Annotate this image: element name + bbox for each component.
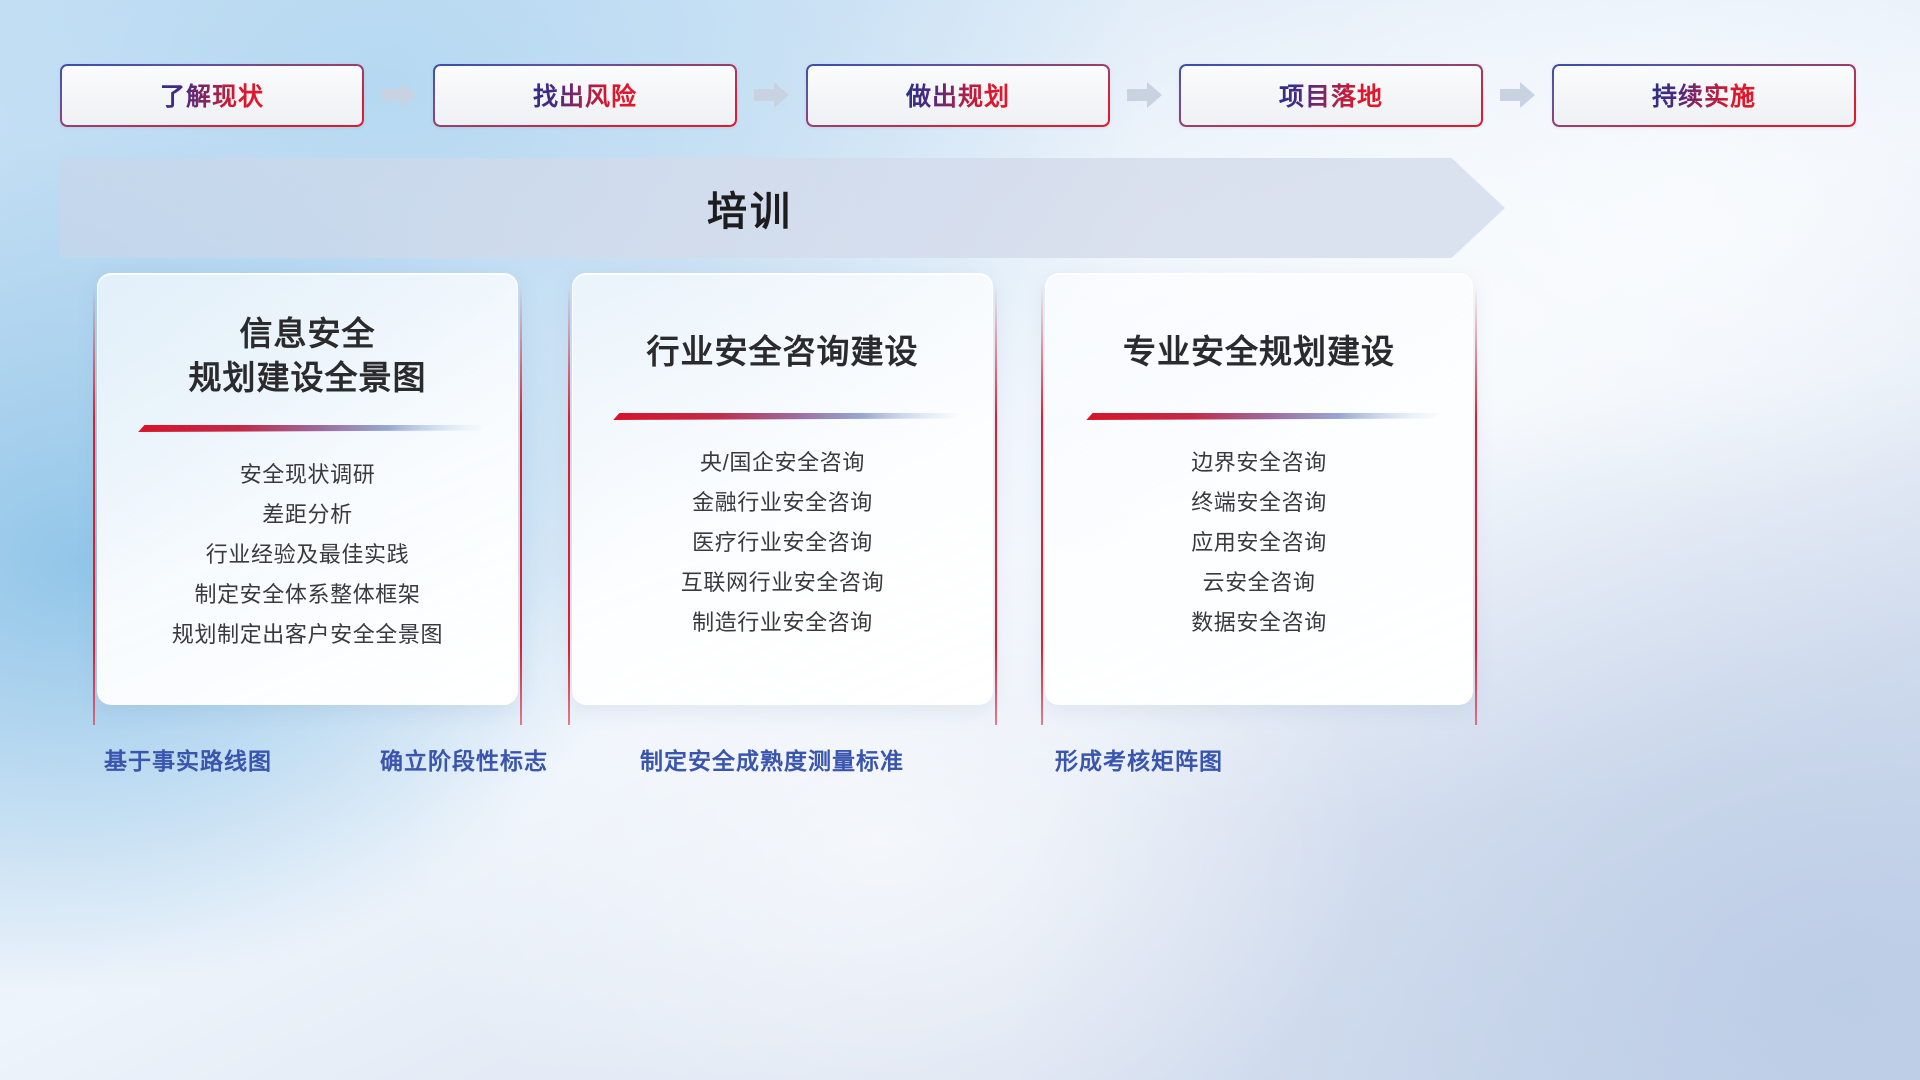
- footer-label: 基于事实路线图: [104, 742, 272, 776]
- card-divider: [132, 424, 484, 434]
- card-body: 专业安全规划建设: [1045, 273, 1473, 705]
- list-item: 应用安全咨询: [1191, 532, 1327, 554]
- process-step-3[interactable]: 做出规划: [806, 64, 1110, 127]
- list-item: 终端安全咨询: [1191, 492, 1327, 514]
- footer-label: 确立阶段性标志: [380, 742, 548, 776]
- card-item-list: 边界安全咨询 终端安全咨询 应用安全咨询 云安全咨询 数据安全咨询: [1046, 452, 1472, 634]
- card-title: 行业安全咨询建设: [647, 330, 919, 374]
- footer-label: 制定安全成熟度测量标准: [640, 742, 904, 776]
- chevron-right-arrow-icon: [737, 75, 806, 115]
- list-item: 差距分析: [262, 504, 352, 526]
- process-step-row: 了解现状 找出风险 做出规划 项目落地 持续实施: [60, 63, 1860, 127]
- list-item: 云安全咨询: [1202, 572, 1315, 594]
- list-item: 数据安全咨询: [1191, 612, 1327, 634]
- card-left-rail: [1041, 287, 1043, 725]
- list-item: 行业经验及最佳实践: [206, 544, 409, 566]
- chevron-right-arrow-icon: [1110, 75, 1179, 115]
- list-item: 医疗行业安全咨询: [692, 532, 873, 554]
- training-banner-title: 培训: [60, 158, 1440, 258]
- footer-label: 形成考核矩阵图: [1055, 742, 1223, 776]
- process-step-5[interactable]: 持续实施: [1552, 64, 1856, 127]
- chevron-right-arrow-icon: [364, 75, 433, 115]
- process-step-label: 了解现状: [160, 77, 264, 113]
- process-step-label: 项目落地: [1279, 77, 1383, 113]
- card-divider: [607, 412, 959, 422]
- footer-label-row: 基于事实路线图 确立阶段性标志 制定安全成熟度测量标准 形成考核矩阵图: [0, 742, 1920, 788]
- card-body: 行业安全咨询建设: [572, 273, 993, 705]
- card-right-rail: [1475, 287, 1477, 725]
- card-item-list: 安全现状调研 差距分析 行业经验及最佳实践 制定安全体系整体框架 规划制定出客户…: [98, 464, 517, 646]
- process-step-4[interactable]: 项目落地: [1179, 64, 1483, 127]
- list-item: 制造行业安全咨询: [692, 612, 873, 634]
- card-title: 专业安全规划建设: [1123, 330, 1395, 374]
- card-title: 信息安全 规划建设全景图: [189, 312, 427, 400]
- process-step-label: 做出规划: [906, 77, 1010, 113]
- card-right-rail: [520, 287, 522, 725]
- card-body: 信息安全 规划建设全景图: [97, 273, 518, 705]
- process-step-2[interactable]: 找出风险: [433, 64, 737, 127]
- list-item: 规划制定出客户安全全景图: [172, 624, 443, 646]
- capability-card-3[interactable]: 专业安全规划建设: [1041, 273, 1477, 718]
- process-step-label: 持续实施: [1652, 77, 1756, 113]
- capability-card-row: 信息安全 规划建设全景图: [0, 273, 1920, 718]
- process-step-1[interactable]: 了解现状: [60, 64, 364, 127]
- training-banner: 培训: [60, 158, 1505, 258]
- card-left-rail: [568, 287, 570, 725]
- list-item: 安全现状调研: [240, 464, 376, 486]
- capability-card-1[interactable]: 信息安全 规划建设全景图: [93, 273, 522, 718]
- card-right-rail: [995, 287, 997, 725]
- capability-card-2[interactable]: 行业安全咨询建设: [568, 273, 997, 718]
- card-left-rail: [93, 287, 95, 725]
- list-item: 边界安全咨询: [1191, 452, 1327, 474]
- list-item: 互联网行业安全咨询: [681, 572, 884, 594]
- card-divider: [1080, 412, 1438, 422]
- chevron-right-arrow-icon: [1483, 75, 1552, 115]
- list-item: 央/国企安全咨询: [700, 452, 865, 474]
- process-step-label: 找出风险: [533, 77, 637, 113]
- card-item-list: 央/国企安全咨询 金融行业安全咨询 医疗行业安全咨询 互联网行业安全咨询 制造行…: [573, 452, 992, 634]
- list-item: 金融行业安全咨询: [692, 492, 873, 514]
- list-item: 制定安全体系整体框架: [194, 584, 420, 606]
